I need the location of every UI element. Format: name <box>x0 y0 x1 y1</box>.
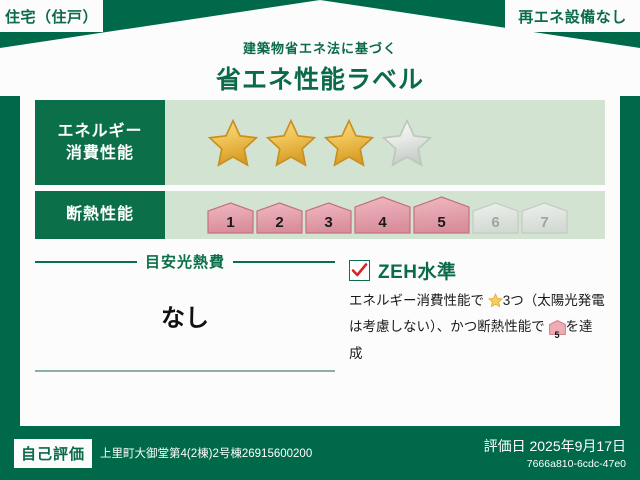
section-divider <box>35 370 335 372</box>
zeh-desc-part1: エネルギー消費性能で <box>349 293 484 308</box>
insulation-grades-area: 1234567 <box>165 191 605 239</box>
insulation-grade-5: 5 <box>413 196 470 234</box>
insulation-grade-7: 7 <box>521 202 568 234</box>
utility-cost-value: なし <box>35 298 335 333</box>
footer: 自己評価 上里町大御堂第4(2棟)2号棟26915600200 評価日 2025… <box>0 426 640 480</box>
insulation-grade-scale: 1234567 <box>207 196 568 234</box>
title-subtitle: 建築物省エネ法に基づく <box>0 38 640 57</box>
insulation-performance-row: 断熱性能 1234567 <box>35 191 605 239</box>
property-address: 上里町大御堂第4(2棟)2号棟26915600200 <box>100 445 312 461</box>
inline-house-badge: 5 <box>549 320 566 343</box>
utility-cost-block: 目安光熱費 なし <box>35 251 335 372</box>
energy-label-line2: 消費性能 <box>66 143 134 165</box>
star-filled-icon <box>323 118 375 168</box>
star-empty-icon <box>381 118 433 168</box>
star-filled-icon <box>207 118 259 168</box>
insulation-grade-label: 2 <box>256 214 303 231</box>
zeh-desc-part3: は考慮しない）、かつ断熱性能で <box>349 319 545 334</box>
label-card: エネルギー 消費性能 断熱性能 1234567 目安光熱費 なし <box>20 86 620 426</box>
renewable-energy-tag: 再エネ設備なし <box>505 0 640 32</box>
insulation-grade-label: 7 <box>521 214 568 231</box>
cost-rule-right <box>233 261 335 263</box>
zeh-block: ZEH水準 エネルギー消費性能で 3つ（太陽光発電 は考慮しない）、かつ断熱性能… <box>335 251 605 372</box>
inline-star-icon <box>488 293 503 316</box>
footer-right: 評価日 2025年9月17日 7666a810-6cdc-47e0 <box>484 436 626 470</box>
insulation-grade-2: 2 <box>256 202 303 234</box>
zeh-description: エネルギー消費性能で 3つ（太陽光発電 は考慮しない）、かつ断熱性能で 5 を達… <box>349 290 605 366</box>
check-icon <box>351 262 368 279</box>
building-type-tag: 住宅（住戸） <box>0 0 103 32</box>
insulation-grade-label: 3 <box>305 214 352 231</box>
zeh-header: ZEH水準 <box>349 257 605 284</box>
insulation-grade-label: 4 <box>354 214 411 231</box>
zeh-desc-part2: 3つ（太陽光発電 <box>503 293 605 308</box>
insulation-grade-3: 3 <box>305 202 352 234</box>
insulation-grade-4: 4 <box>354 196 411 234</box>
lower-section: 目安光熱費 なし ZEH水準 エネルギー消費性能で <box>35 251 605 372</box>
insulation-label-text: 断熱性能 <box>66 204 134 226</box>
footer-left: 自己評価 上里町大御堂第4(2棟)2号棟26915600200 <box>14 439 312 468</box>
insulation-grade-label: 1 <box>207 214 254 231</box>
energy-performance-row: エネルギー 消費性能 <box>35 100 605 185</box>
inline-house-grade: 5 <box>549 328 566 343</box>
cost-rule-left <box>35 261 137 263</box>
self-evaluation-badge: 自己評価 <box>14 439 92 468</box>
star-filled-icon <box>265 118 317 168</box>
insulation-grade-label: 5 <box>413 214 470 231</box>
utility-cost-header: 目安光熱費 <box>35 251 335 272</box>
insulation-grade-1: 1 <box>207 202 254 234</box>
star-rating <box>207 118 433 168</box>
label-uuid: 7666a810-6cdc-47e0 <box>484 458 626 470</box>
insulation-performance-label: 断熱性能 <box>35 191 165 239</box>
label-titles: 建築物省エネ法に基づく 省エネ性能ラベル <box>0 38 640 96</box>
utility-cost-title: 目安光熱費 <box>145 251 225 272</box>
energy-label-line1: エネルギー <box>57 121 142 143</box>
energy-performance-label: エネルギー 消費性能 <box>35 100 165 185</box>
evaluation-date: 評価日 2025年9月17日 <box>484 436 626 456</box>
zeh-title: ZEH水準 <box>378 257 457 284</box>
zeh-checkbox[interactable] <box>349 260 370 281</box>
insulation-grade-6: 6 <box>472 202 519 234</box>
energy-stars-area <box>165 100 605 185</box>
page-title: 省エネ性能ラベル <box>0 60 640 96</box>
insulation-grade-label: 6 <box>472 214 519 231</box>
